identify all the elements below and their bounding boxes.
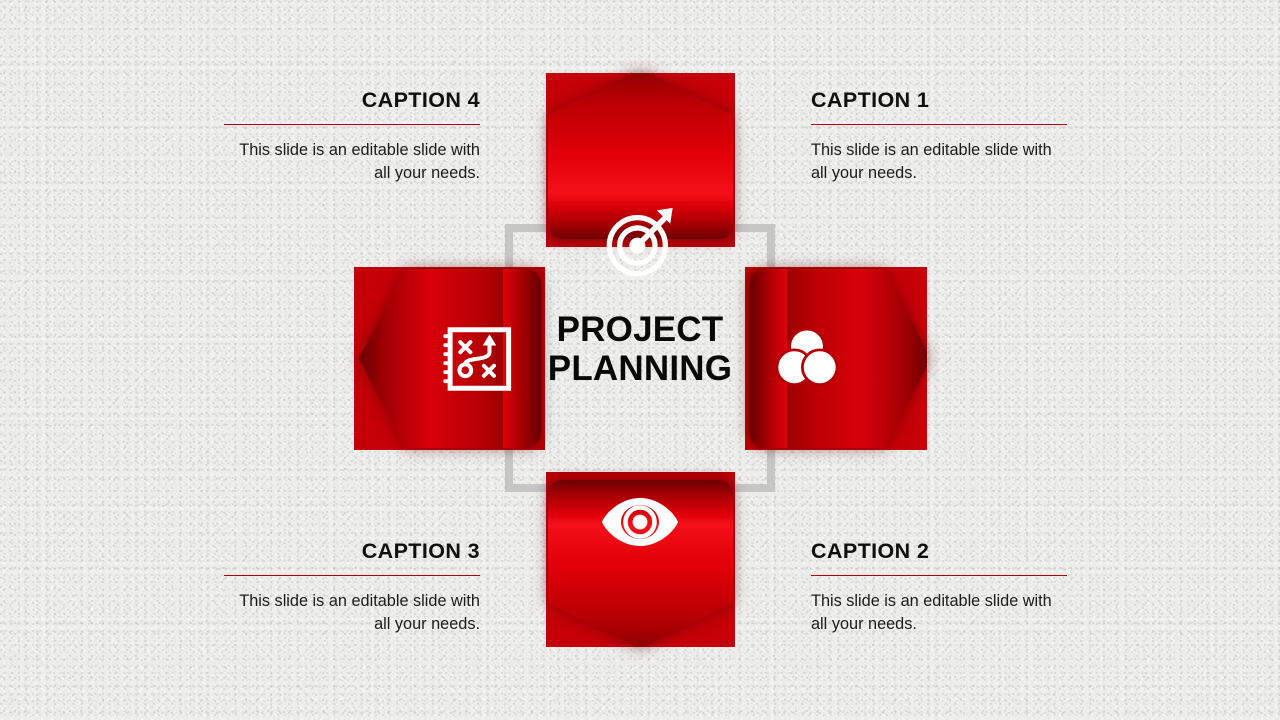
caption-2-body: This slide is an editable slide with all…: [811, 590, 1067, 636]
caption-3-rule: [224, 575, 480, 576]
caption-4: CAPTION 4 This slide is an editable slid…: [224, 90, 480, 185]
caption-1-rule: [811, 124, 1067, 125]
frame-bottom-left-horizontal: [505, 484, 549, 492]
caption-1-body: This slide is an editable slide with all…: [811, 139, 1067, 185]
strategy-board-icon: [440, 323, 512, 395]
caption-2-rule: [811, 575, 1067, 576]
venn-circles-icon: [770, 321, 844, 395]
caption-1: CAPTION 1 This slide is an editable slid…: [811, 90, 1067, 185]
caption-2-title: CAPTION 2: [811, 541, 1067, 563]
eye-icon: [599, 492, 681, 552]
target-arrow-icon: [602, 203, 680, 281]
frame-top-left-vertical: [505, 224, 513, 272]
page-title: PROJECT PLANNING: [510, 310, 770, 388]
frame-bottom-right-horizontal: [731, 484, 775, 492]
frame-top-right-vertical: [767, 224, 775, 272]
caption-3: CAPTION 3 This slide is an editable slid…: [224, 541, 480, 636]
caption-3-title: CAPTION 3: [224, 541, 480, 563]
slide-canvas: CAPTION 1 This slide is an editable slid…: [0, 0, 1280, 720]
caption-2: CAPTION 2 This slide is an editable slid…: [811, 541, 1067, 636]
caption-3-body: This slide is an editable slide with all…: [224, 590, 480, 636]
shape-bottom[interactable]: [546, 472, 735, 647]
caption-4-title: CAPTION 4: [224, 90, 480, 112]
caption-4-body: This slide is an editable slide with all…: [224, 139, 480, 185]
caption-4-rule: [224, 124, 480, 125]
shape-right[interactable]: [745, 267, 927, 450]
shape-top[interactable]: [546, 73, 735, 247]
caption-1-title: CAPTION 1: [811, 90, 1067, 112]
